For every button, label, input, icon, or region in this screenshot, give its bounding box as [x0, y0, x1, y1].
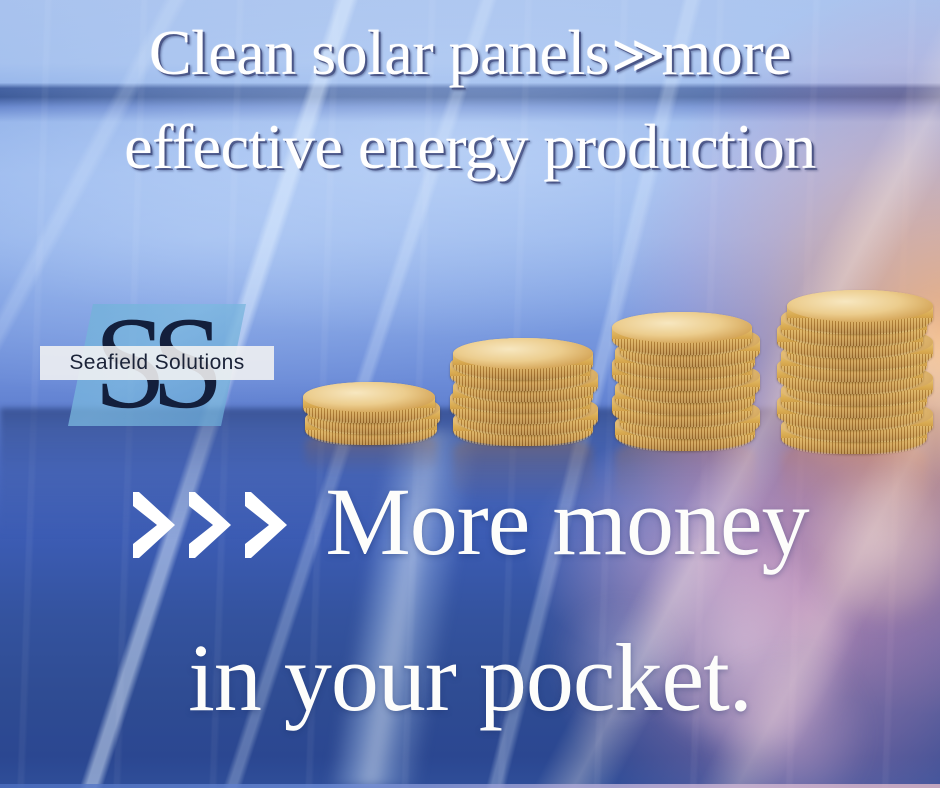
coin: [303, 382, 435, 423]
tagline-line-1: More money: [0, 470, 940, 574]
headline-line-1-text-after: more: [662, 17, 792, 88]
coin-stack-4: [775, 290, 933, 462]
coin-face: [787, 290, 933, 322]
coin-stack-3: [610, 312, 760, 459]
bottom-edge-highlight: [0, 784, 940, 788]
triple-chevron-right-icon: [131, 488, 303, 562]
triple-chevron-icon-small: ≫: [609, 21, 661, 91]
tagline-line-1-text: More money: [325, 468, 808, 575]
logo-company-name: Seafield Solutions: [69, 351, 244, 375]
coin-face: [453, 338, 593, 369]
logo-name-band: Seafield Solutions: [40, 346, 274, 380]
coin-stack-2: [448, 338, 598, 455]
seafield-solutions-logo: SS Seafield Solutions: [58, 296, 258, 434]
headline-line-1-text-before: Clean solar panels: [149, 17, 609, 88]
headline-line-2: effective energy production: [0, 112, 940, 182]
tagline-line-2: in your pocket.: [0, 626, 940, 730]
coin: [612, 312, 752, 355]
coin-face: [612, 312, 752, 343]
headline-line-1: Clean solar panels≫more: [0, 18, 940, 91]
coin: [787, 290, 933, 334]
coin: [453, 338, 593, 380]
coin-face: [303, 382, 435, 412]
promo-image: Clean solar panels≫more effective energy…: [0, 0, 940, 788]
